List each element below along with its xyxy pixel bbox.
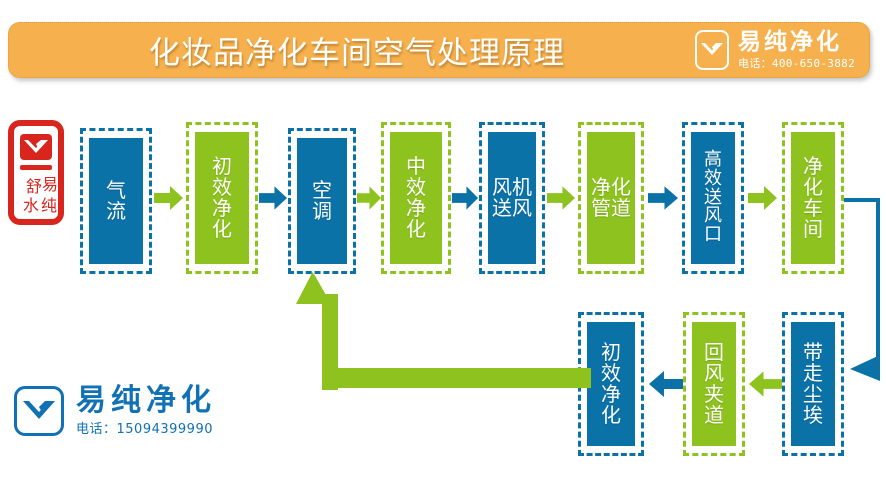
node-fill: 净化车间 bbox=[791, 132, 835, 264]
node-fill: 中效净化 bbox=[390, 132, 442, 264]
header-brand-text: 易纯净化 电话：400-650-3882 bbox=[738, 31, 855, 69]
node-label: 净化车间 bbox=[803, 156, 824, 239]
svg-text:舒: 舒 bbox=[26, 177, 42, 196]
svg-text:水: 水 bbox=[23, 196, 39, 215]
header-phone: 电话：400-650-3882 bbox=[738, 58, 855, 69]
flow-arrow-row2-1 bbox=[648, 370, 683, 398]
flow-arrow-row1-7 bbox=[748, 185, 778, 211]
flow-arrow-row1-6 bbox=[648, 185, 679, 211]
yichun-w-mark-icon bbox=[14, 386, 64, 436]
header-bar: 化妆品净化车间空气处理原理 易纯净化 电话：400-650-3882 bbox=[8, 22, 870, 78]
flow-arrow-row1-4 bbox=[452, 185, 479, 211]
footer-phone: 电话：15094399990 bbox=[76, 423, 213, 436]
node-label: 气流 bbox=[106, 180, 127, 222]
page-title: 化妆品净化车间空气处理原理 bbox=[149, 28, 565, 73]
node-fill: 高效送风口 bbox=[691, 132, 735, 264]
red-seal-stamp-icon: 舒 舒 易 水 纯 bbox=[8, 120, 64, 225]
node-fill: 气流 bbox=[89, 138, 143, 264]
flow-node-row1-2[interactable]: 初效净化 bbox=[186, 122, 258, 274]
node-label: 带走尘埃 bbox=[803, 342, 824, 425]
footer-brand: 易纯净化 电话：15094399990 bbox=[14, 386, 216, 436]
node-label: 空调 bbox=[312, 180, 333, 222]
node-label: 回风夹道 bbox=[704, 342, 725, 425]
node-fill: 回风夹道 bbox=[692, 322, 736, 446]
node-label: 高效送风口 bbox=[704, 151, 723, 245]
header-brand-name: 易纯净化 bbox=[738, 31, 842, 54]
node-label: 初效净化 bbox=[212, 156, 233, 239]
flow-node-row1-1[interactable]: 气流 bbox=[80, 128, 152, 274]
flow-arrow-row2-2 bbox=[748, 370, 782, 398]
connector-right-elbow bbox=[844, 195, 886, 390]
flow-node-row1-5[interactable]: 风机送风 bbox=[479, 122, 545, 274]
flow-arrow-row1-2 bbox=[259, 185, 288, 211]
node-fill: 初效净化 bbox=[195, 132, 249, 264]
flow-node-row1-8[interactable]: 净化车间 bbox=[782, 122, 844, 274]
node-label: 风机送风 bbox=[491, 177, 533, 219]
flow-node-row2-3[interactable]: 带走尘埃 bbox=[782, 312, 844, 456]
node-label: 中效净化 bbox=[406, 156, 427, 239]
node-label: 初效净化 bbox=[601, 342, 622, 425]
flow-node-row1-3[interactable]: 空调 bbox=[288, 128, 356, 274]
node-fill: 风机送风 bbox=[488, 132, 536, 264]
flow-node-row2-2[interactable]: 回风夹道 bbox=[683, 312, 745, 456]
flow-node-row1-4[interactable]: 中效净化 bbox=[381, 122, 451, 274]
footer-brand-text: 易纯净化 电话：15094399990 bbox=[76, 386, 216, 436]
flow-arrow-row1-1 bbox=[154, 185, 184, 211]
flow-arrow-row1-3 bbox=[357, 185, 382, 211]
node-fill: 带走尘埃 bbox=[791, 322, 835, 446]
svg-text:纯: 纯 bbox=[41, 196, 57, 215]
yichun-w-mark-icon bbox=[695, 30, 729, 70]
node-fill: 空调 bbox=[297, 138, 347, 264]
node-fill: 初效净化 bbox=[587, 322, 635, 446]
flow-node-row1-6[interactable]: 净化管道 bbox=[578, 122, 644, 274]
header-logo: 易纯净化 电话：400-650-3882 bbox=[695, 30, 855, 70]
flow-node-row1-7[interactable]: 高效送风口 bbox=[682, 122, 744, 274]
diagram-canvas: 化妆品净化车间空气处理原理 易纯净化 电话：400-650-3882 舒 bbox=[0, 0, 886, 488]
svg-text:易: 易 bbox=[42, 175, 58, 194]
footer-brand-name: 易纯净化 bbox=[76, 386, 216, 416]
flow-arrow-row1-5 bbox=[547, 185, 576, 211]
connector-return-elbow bbox=[296, 272, 591, 397]
node-label: 净化管道 bbox=[590, 177, 632, 219]
node-fill: 净化管道 bbox=[587, 132, 635, 264]
